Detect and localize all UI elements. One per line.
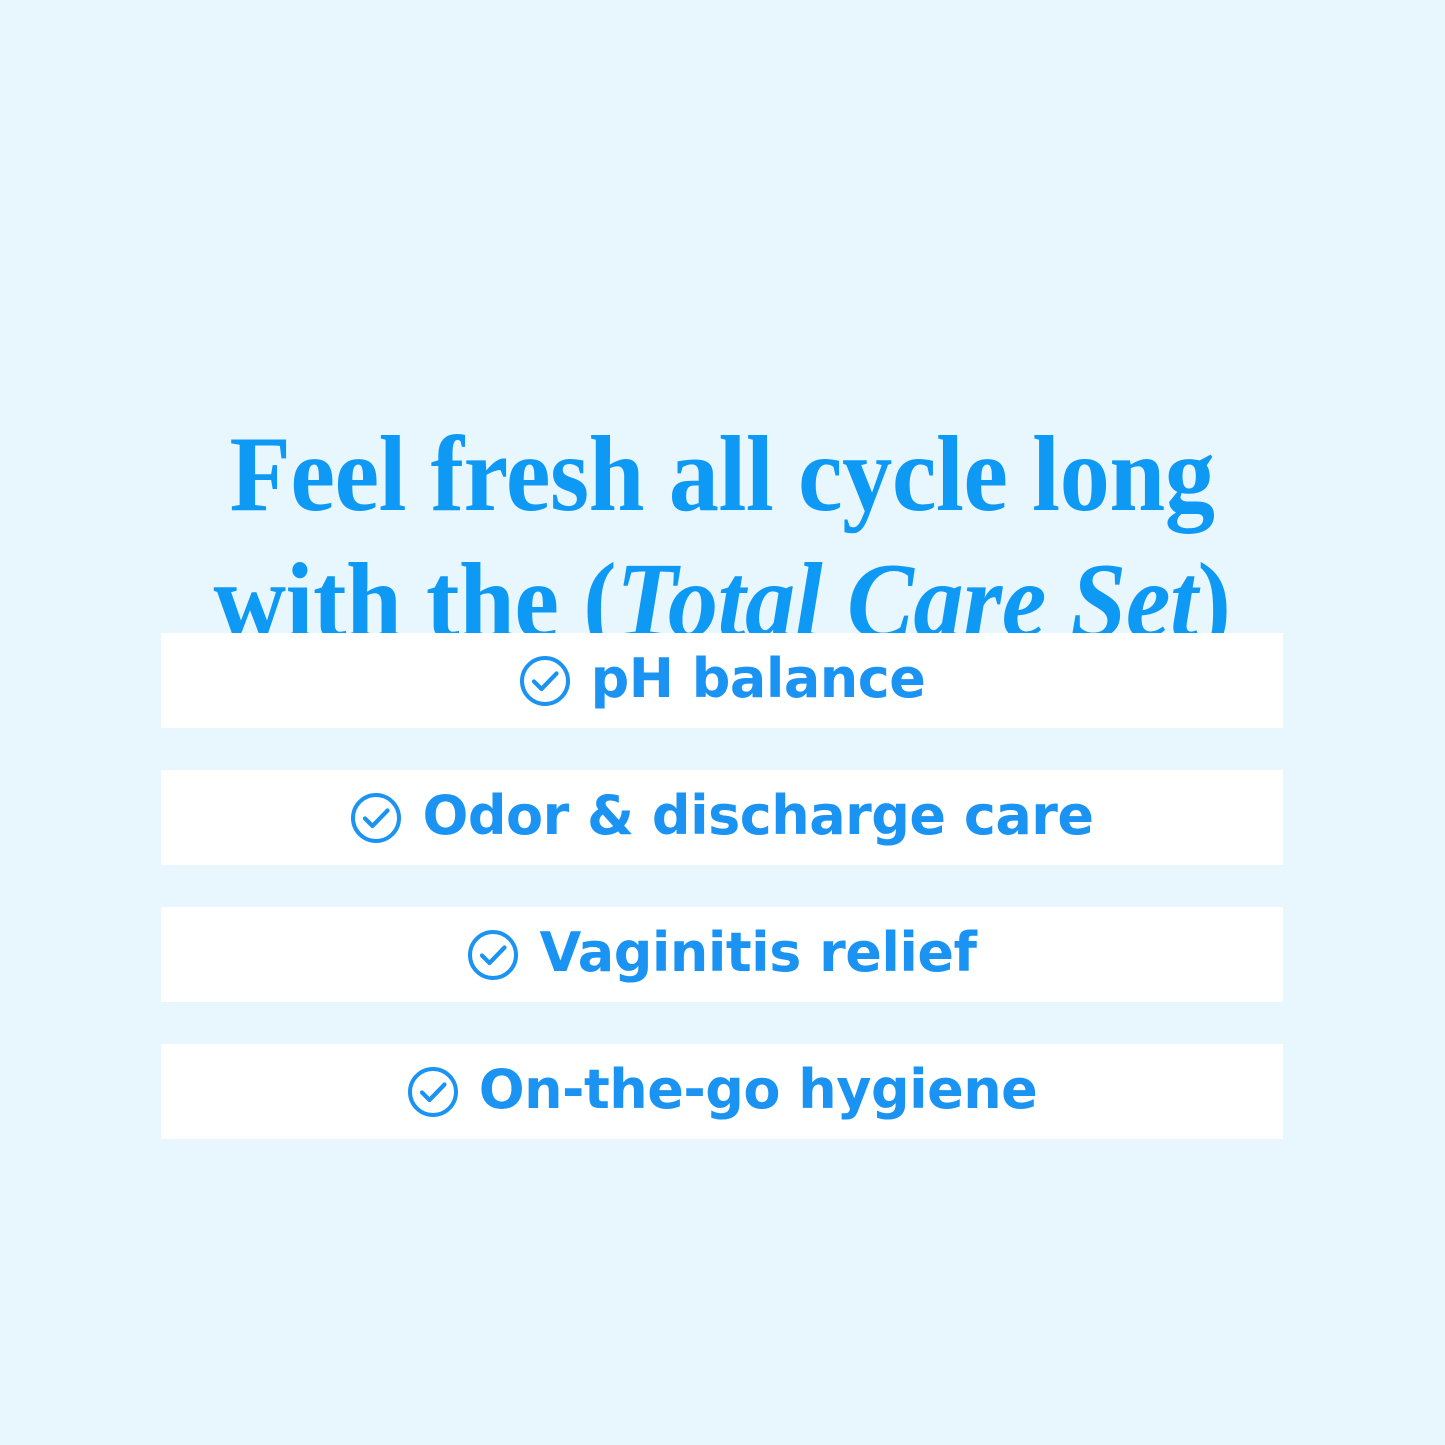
check-circle-icon <box>519 655 571 707</box>
benefit-label: pH balance <box>591 652 926 706</box>
promo-poster: Feel fresh all cycle longwith the (Total… <box>0 0 1445 1445</box>
benefit-label: Vaginitis relief <box>539 926 976 980</box>
benefit-label: Odor & discharge care <box>422 789 1093 843</box>
benefit-item-ph-balance: pH balance <box>161 633 1283 728</box>
benefit-item-on-the-go-hygiene: On-the-go hygiene <box>161 1044 1283 1139</box>
check-circle-icon <box>350 792 402 844</box>
check-circle-icon <box>467 929 519 981</box>
check-circle-icon <box>407 1066 459 1118</box>
benefit-label: On-the-go hygiene <box>479 1063 1038 1117</box>
benefit-item-odor-discharge-care: Odor & discharge care <box>161 770 1283 865</box>
benefit-list: pH balance Odor & discharge care Vaginit… <box>161 633 1283 1139</box>
headline-line-1: Feel fresh all cycle long <box>200 412 1243 538</box>
benefit-item-vaginitis-relief: Vaginitis relief <box>161 907 1283 1002</box>
